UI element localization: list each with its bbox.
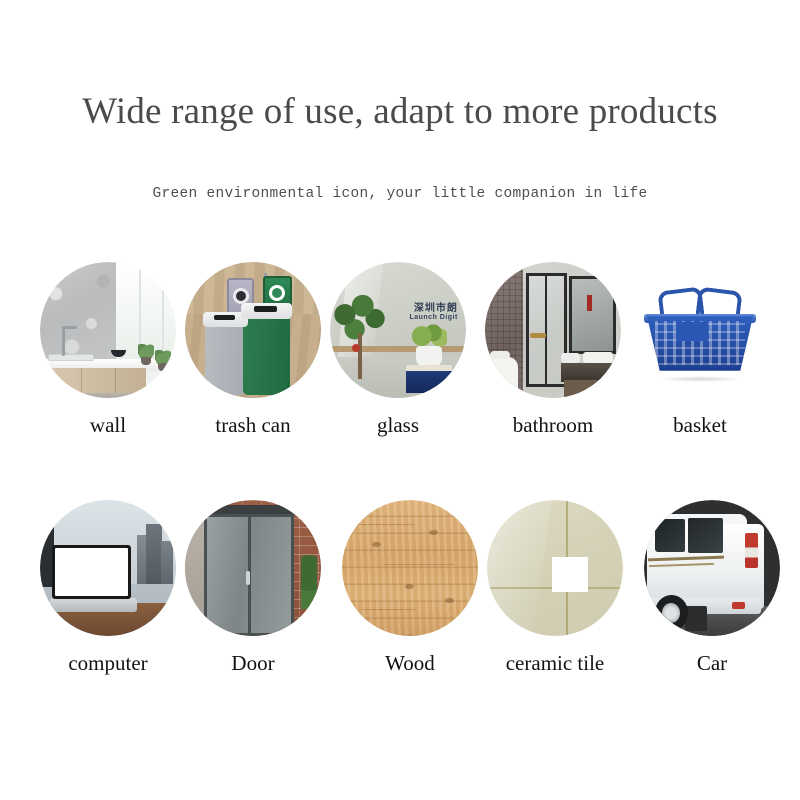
metal-double-door-photo [185, 500, 321, 636]
bathroom-caption: bathroom [478, 415, 628, 436]
gallery-item-bathroom[interactable]: bathroom [478, 262, 628, 436]
gallery-item-door[interactable]: Door [178, 500, 328, 674]
glass-thumbnail[interactable]: 深圳市朗 Launch Digit [330, 262, 466, 398]
white-suv-photo [644, 500, 780, 636]
wood-planks-photo [342, 500, 478, 636]
glass-partition-photo: 深圳市朗 Launch Digit [330, 262, 466, 398]
basket-thumbnail[interactable] [632, 262, 768, 398]
gallery-item-computer[interactable]: computer [33, 500, 183, 674]
bathroom-shower-photo [485, 262, 621, 398]
gallery-item-trash-can[interactable]: trash can [178, 262, 328, 436]
kitchen-wall-photo [40, 262, 176, 398]
glass-sign-english: Launch Digit [409, 314, 457, 321]
gallery-item-wood[interactable]: Wood [335, 500, 485, 674]
shopping-basket-photo [632, 262, 768, 398]
computer-caption: computer [33, 653, 183, 674]
car-caption: Car [637, 653, 787, 674]
car-thumbnail[interactable] [644, 500, 780, 636]
trash-can-caption: trash can [178, 415, 328, 436]
trash-can-thumbnail[interactable] [185, 262, 321, 398]
laptop-desk-photo [40, 500, 176, 636]
gallery-item-ceramic-tile[interactable]: ceramic tile [480, 500, 630, 674]
gallery-item-glass[interactable]: 深圳市朗 Launch Digit glass [323, 262, 473, 436]
glass-sign-chinese: 深圳市朗 [414, 299, 458, 314]
wood-caption: Wood [335, 653, 485, 674]
basket-caption: basket [625, 415, 775, 436]
recycling-bins-photo [185, 262, 321, 398]
gallery-item-wall[interactable]: wall [33, 262, 183, 436]
promo-page: Wide range of use, adapt to more product… [0, 0, 800, 800]
gallery-item-basket[interactable]: basket [625, 262, 775, 436]
ceramic-tile-photo [487, 500, 623, 636]
bathroom-thumbnail[interactable] [485, 262, 621, 398]
glass-caption: glass [323, 415, 473, 436]
ceramic-tile-caption: ceramic tile [480, 653, 630, 674]
wood-thumbnail[interactable] [342, 500, 478, 636]
gallery-item-car[interactable]: Car [637, 500, 787, 674]
page-subtitle: Green environmental icon, your little co… [0, 186, 800, 202]
door-caption: Door [178, 653, 328, 674]
wall-caption: wall [33, 415, 183, 436]
wall-thumbnail[interactable] [40, 262, 176, 398]
door-thumbnail[interactable] [185, 500, 321, 636]
ceramic-tile-thumbnail[interactable] [487, 500, 623, 636]
computer-thumbnail[interactable] [40, 500, 176, 636]
page-title: Wide range of use, adapt to more product… [0, 90, 800, 133]
